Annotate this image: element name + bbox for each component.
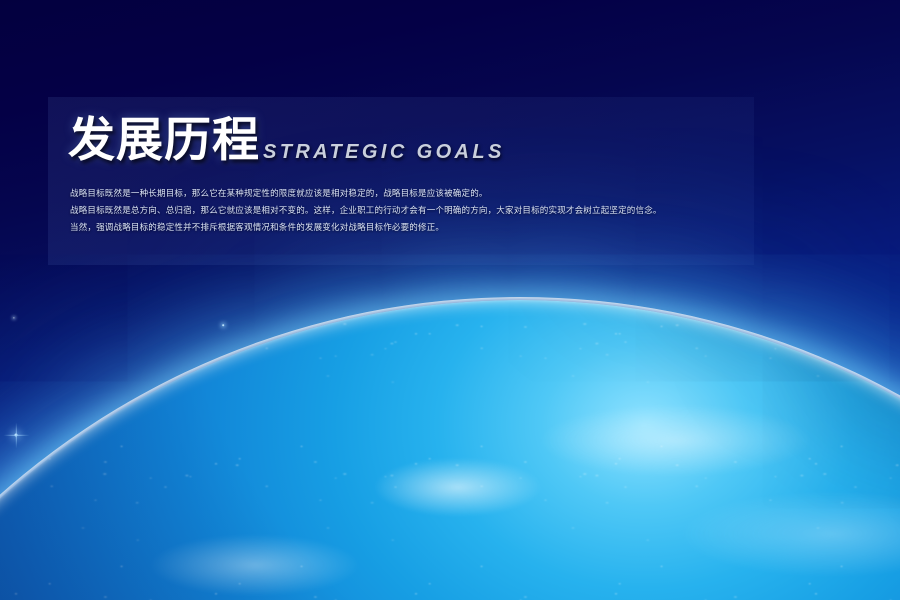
description-text: 战略目标既然是一种长期目标，那么它在某种规定性的限度就应该是相对稳定的，战略目标…	[70, 188, 760, 234]
page-title-english: STRATEGIC GOALS	[263, 142, 505, 165]
page-title: 发展历程 STRATEGIC GOALS	[68, 118, 505, 165]
page-title-chinese: 发展历程	[68, 118, 260, 165]
description-line-3: 当然，强调战略目标的稳定性并不排斥根据客观情况和条件的发展变化对战略目标作必要的…	[70, 222, 760, 234]
description-line-2: 战略目标既然是总方向、总归宿，那么它就应该是相对不变的。这样，企业职工的行动才会…	[70, 205, 760, 217]
space-background	[0, 0, 900, 600]
description-line-1: 战略目标既然是一种长期目标，那么它在某种规定性的限度就应该是相对稳定的，战略目标…	[70, 188, 760, 200]
hero-banner: 发展历程 STRATEGIC GOALS 战略目标既然是一种长期目标，那么它在某…	[0, 0, 900, 600]
